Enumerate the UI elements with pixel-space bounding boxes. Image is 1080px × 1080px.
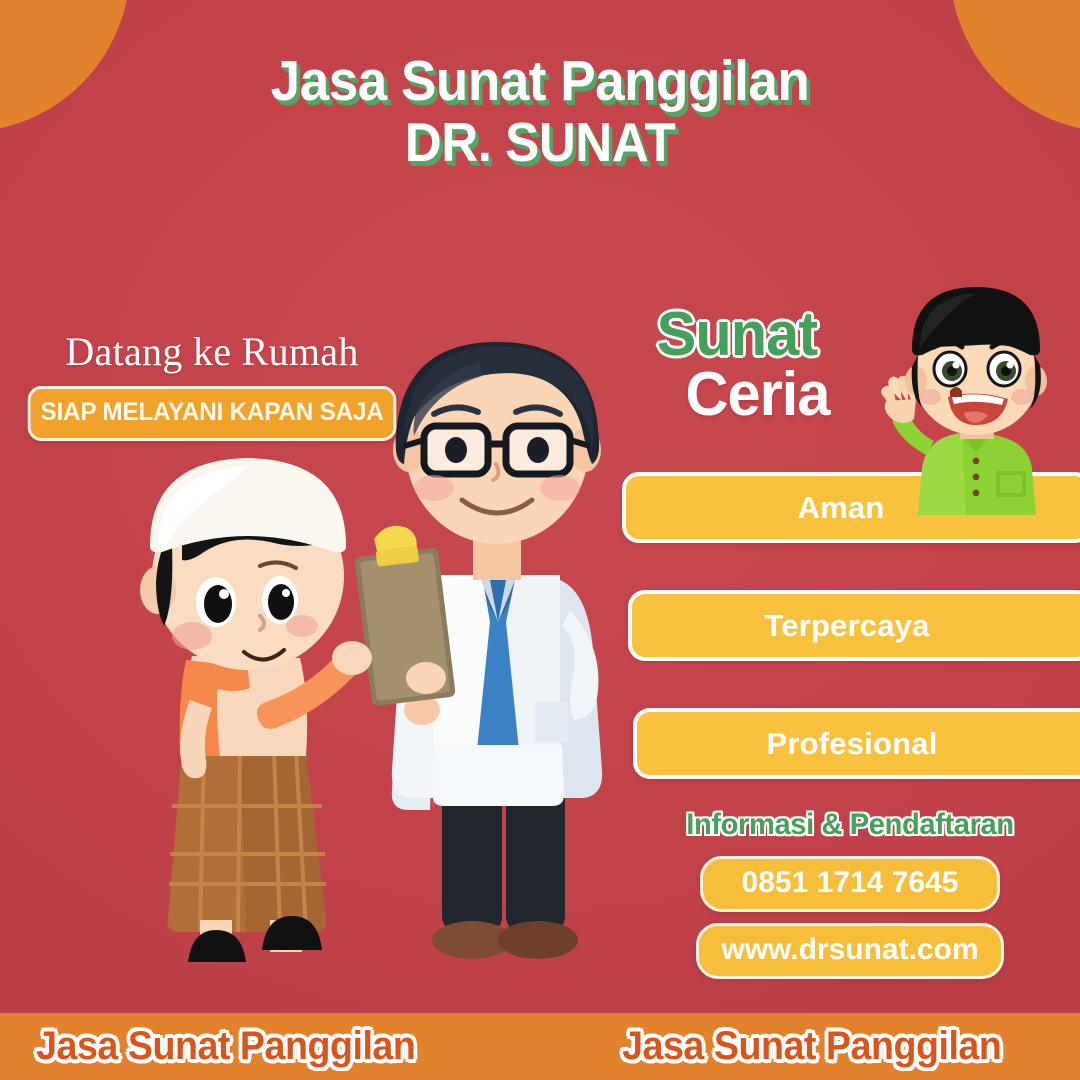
home-visit-tagline: Datang ke Rumah (22, 330, 402, 374)
availability-badge: SIAP MELAYANI KAPAN SAJA (28, 386, 397, 441)
feature-pill-profesional[interactable]: Profesional (633, 708, 1080, 779)
brand-word-sunat: Sunat (657, 305, 1072, 365)
contact-heading: Informasi & Pendaftaran (627, 808, 1073, 842)
contact-block: Informasi & Pendaftaran 0851 1714 7645 w… (620, 808, 1080, 990)
phone-number-pill[interactable]: 0851 1714 7645 (700, 856, 1000, 912)
website-pill[interactable]: www.drsunat.com (696, 923, 1004, 979)
brand-title: Sunat Ceria (620, 305, 1080, 425)
headline-line-2: DR. SUNAT (38, 114, 1042, 170)
brand-word-ceria: Ceria (657, 365, 1072, 425)
poster-headline: Jasa Sunat Panggilan DR. SUNAT (0, 52, 1080, 170)
boy-patient-illustration (120, 450, 420, 990)
feature-pill-label: Profesional (637, 726, 1067, 762)
headline-line-1: Jasa Sunat Panggilan (38, 52, 1042, 110)
feature-pill-label: Aman (626, 490, 1056, 526)
bottom-banner-text-right: Jasa Sunat Panggilan (622, 1024, 1001, 1069)
feature-pill-terpercaya[interactable]: Terpercaya (628, 590, 1080, 661)
left-text-block: Datang ke Rumah SIAP MELAYANI KAPAN SAJA (22, 330, 402, 441)
feature-pill-aman[interactable]: Aman (622, 472, 1080, 543)
bottom-banner-text-left: Jasa Sunat Panggilan (36, 1024, 415, 1069)
bottom-banner: Jasa Sunat Panggilan Jasa Sunat Panggila… (0, 1013, 1080, 1080)
poster-canvas: Jasa Sunat Panggilan DR. SUNAT Datang ke… (0, 0, 1080, 1080)
feature-pill-label: Terpercaya (632, 608, 1062, 644)
brand-block: Sunat Ceria (620, 305, 1080, 435)
